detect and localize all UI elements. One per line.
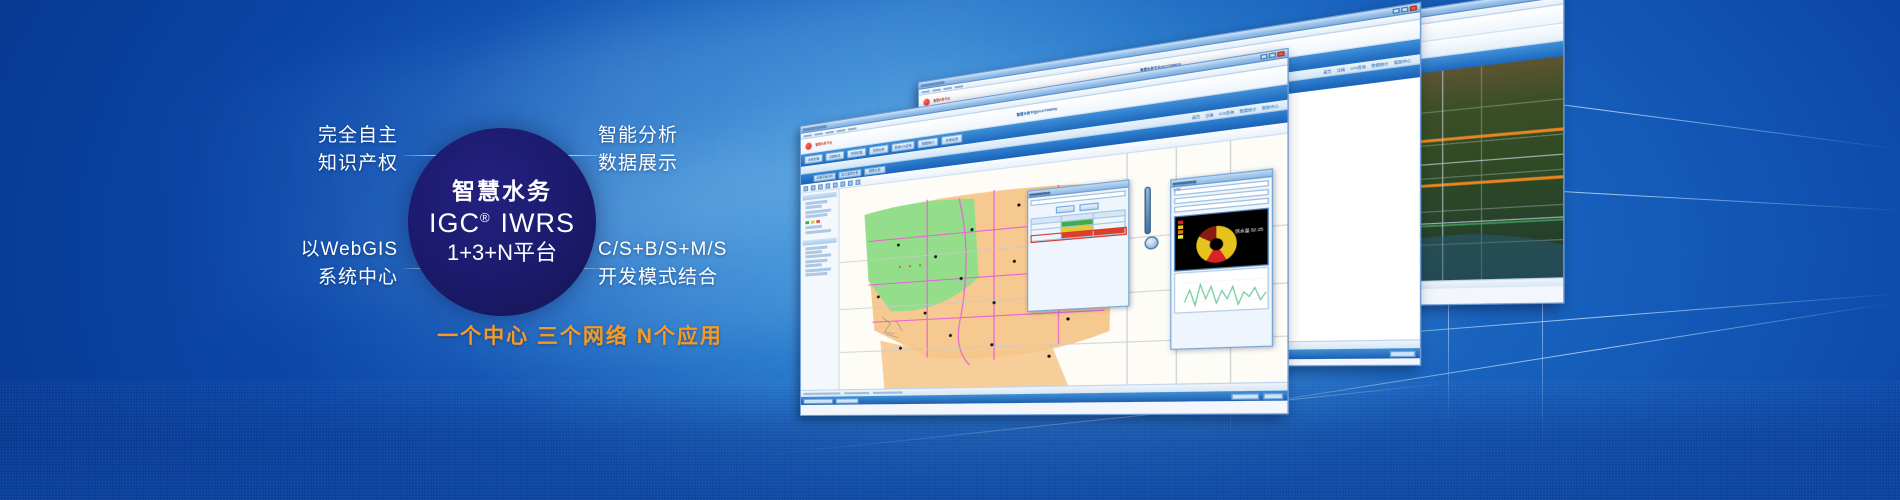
tagline: 一个中心 三个网络 N个应用: [370, 320, 790, 350]
corner-link-1[interactable]: 注销: [1337, 66, 1345, 72]
hub-brand-name: IGC®IWRS: [429, 208, 575, 238]
corner-link-0[interactable]: 首页: [1192, 114, 1200, 120]
gauge-legend: [1178, 220, 1183, 240]
gauge-donut: [1196, 224, 1237, 264]
nav-item-0[interactable]: 系统管理: [805, 154, 823, 165]
corner-link-4[interactable]: 帮助中心: [1394, 57, 1411, 64]
close-icon: [1277, 51, 1284, 57]
feature-top-left: 完全自主 知识产权: [188, 122, 398, 177]
hub-platform-label: 1+3+N平台: [447, 241, 557, 266]
mini-line-chart-svg: [1175, 268, 1269, 313]
feature-bottom-left: 以WebGIS 系统中心: [188, 236, 398, 291]
pan-pad-icon[interactable]: [1145, 236, 1159, 250]
feature-top-left-line2: 知识产权: [188, 150, 398, 178]
attribute-panel-header: [803, 237, 837, 245]
feature-top-left-line1: 完全自主: [188, 122, 398, 150]
map-tool-pointer-icon: [804, 185, 809, 191]
attribute-row: [805, 272, 827, 277]
panel-body: 供水量 52.25: [1171, 177, 1271, 316]
hub-brand-iwrs: IWRS: [501, 208, 576, 238]
app-logo-icon: [805, 141, 813, 151]
map-tool-zoomin-icon: [818, 184, 823, 190]
hub-chinese-title: 智慧水务: [452, 179, 552, 205]
feature-bottom-left-line2: 系统中心: [188, 264, 398, 292]
nav-item-4[interactable]: 营销GIS应用: [892, 141, 915, 153]
layer-panel-header: [803, 192, 837, 201]
map-navigation-pad[interactable]: [1145, 186, 1159, 250]
map-tool-pan-icon: [811, 185, 816, 191]
corner-link-1[interactable]: 注销: [1205, 112, 1213, 118]
map-tool-zoomout-icon: [826, 183, 831, 189]
nav-item-5[interactable]: 数据统计: [918, 137, 939, 148]
legend-swatch-yellow: [811, 220, 815, 223]
dialog-delete-button[interactable]: [1080, 202, 1099, 211]
map-tool-measure-icon: [833, 182, 838, 188]
dialog-title: 管网水压监测: [1029, 191, 1050, 196]
svg-text:●: ●: [909, 264, 911, 269]
nav-item-3[interactable]: 管网分析: [869, 144, 889, 155]
registered-mark-icon: ®: [480, 210, 491, 225]
app-window-front: 智慧水务平台 智慧水务平台(IGC®IWRS) 系统管理 基础信息 管网管理 管…: [800, 48, 1289, 416]
central-hub-circle: 智慧水务 IGC®IWRS 1+3+N平台: [408, 128, 596, 316]
map-tool-print-icon: [848, 180, 853, 186]
brand-text: 智慧水务平台: [815, 140, 832, 147]
corner-link-3[interactable]: 数据统计: [1240, 106, 1257, 113]
close-icon: [1410, 5, 1417, 11]
hero-banner: 智慧水务 IGC®IWRS 1+3+N平台 完全自主 知识产权 以WebGIS …: [0, 0, 1900, 500]
attribute-row: [805, 245, 827, 250]
svg-text:●: ●: [919, 263, 922, 268]
corner-link-0[interactable]: 首页: [1323, 68, 1331, 74]
panel-title: 压力监测平台分析: [1173, 180, 1197, 185]
application-screenshot-stack: 智慧水务平台(IGC®IWRS) 系统管理 基础信息 管网管理 管网分析 营销G…: [790, 40, 1550, 420]
query-dialog[interactable]: 管网水压监测: [1027, 179, 1129, 312]
legend-swatch-red: [816, 220, 820, 223]
corner-link-2[interactable]: GIS查询: [1219, 109, 1234, 116]
zoom-slider[interactable]: [1145, 186, 1151, 234]
analysis-panel[interactable]: 压力监测平台分析: [1170, 168, 1273, 350]
layer-tree-panel[interactable]: [801, 189, 840, 390]
corner-link-3[interactable]: 数据统计: [1371, 60, 1388, 67]
corner-link-4[interactable]: 帮助中心: [1262, 103, 1279, 110]
pressure-gauge: 供水量 52.25: [1174, 208, 1269, 272]
dialog-query-button[interactable]: [1055, 205, 1074, 214]
gauge-value-label: 供水量 52.25: [1235, 227, 1263, 236]
nav-item-6[interactable]: 系统设置: [941, 134, 962, 146]
corner-link-2[interactable]: GIS查询: [1350, 64, 1365, 71]
svg-text:●: ●: [898, 265, 900, 270]
legend-swatch-green: [805, 221, 809, 224]
mini-trend-chart: [1174, 267, 1269, 314]
map-tool-layers-icon: [856, 179, 861, 185]
map-tool-identify-icon: [840, 181, 845, 187]
nav-item-1[interactable]: 基础信息: [826, 151, 845, 162]
attribute-row: [805, 258, 827, 263]
feature-bottom-left-line1: 以WebGIS: [188, 236, 398, 264]
nav-item-2[interactable]: 管网管理: [847, 148, 866, 159]
hub-brand-igc: IGC: [429, 208, 480, 238]
